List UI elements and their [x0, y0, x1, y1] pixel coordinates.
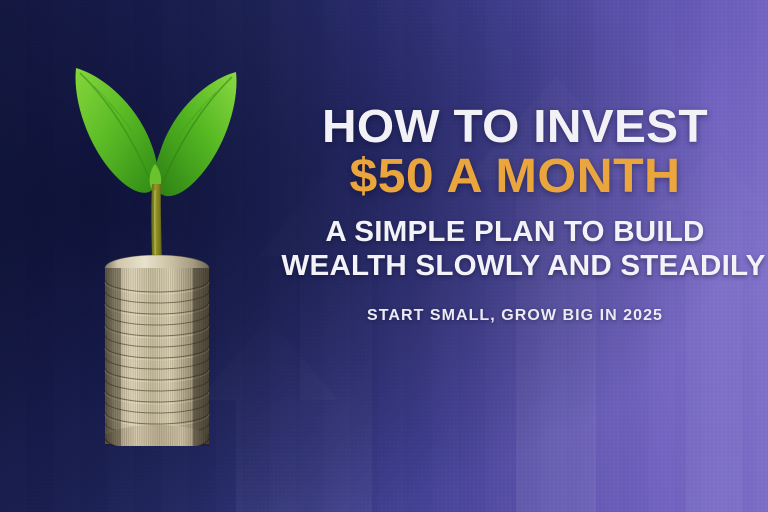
page-title-line1: HOW TO INVEST	[277, 104, 753, 149]
poster-canvas: HOW TO INVEST $50 A MONTH A SIMPLE PLAN …	[0, 0, 768, 512]
page-title-line2-accent: $50 A MONTH	[277, 152, 753, 202]
leaf-icon	[154, 72, 236, 196]
leaf-icon	[75, 68, 157, 193]
subheadline-line2: WEALTH SLOWLY AND STEADILY	[281, 250, 748, 284]
coin-stack	[105, 255, 209, 446]
poster-text-block: HOW TO INVEST $50 A MONTH A SIMPLE PLAN …	[286, 104, 744, 325]
plant-on-coins-illustration	[60, 46, 250, 446]
subheadline-line1: A SIMPLE PLAN TO BUILD	[281, 216, 748, 250]
subheadline: A SIMPLE PLAN TO BUILD WEALTH SLOWLY AND…	[286, 216, 744, 283]
tagline: START SMALL, GROW BIG IN 2025	[286, 307, 744, 325]
